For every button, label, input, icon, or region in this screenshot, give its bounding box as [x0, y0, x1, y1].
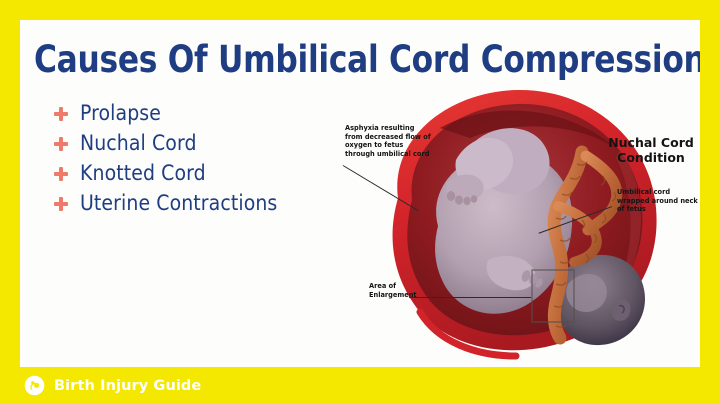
yellow-border-frame: Causes Of Umbilical Cord Compression Pro… [0, 0, 720, 404]
causes-list: Prolapse Nuchal Cord Knotted Cord Uterin… [54, 98, 344, 218]
footer-bar: Birth Injury Guide [0, 367, 720, 404]
content-card: Causes Of Umbilical Cord Compression Pro… [20, 20, 700, 367]
annotation-cord-wrapped-around-neck: Umbilical cord wrapped around neck of fe… [617, 188, 700, 214]
list-item: Knotted Cord [54, 158, 344, 188]
list-item: Nuchal Cord [54, 128, 344, 158]
list-item-label: Knotted Cord [80, 161, 206, 185]
plus-cross-icon [54, 137, 68, 151]
list-item-label: Uterine Contractions [80, 191, 277, 215]
list-item: Prolapse [54, 98, 344, 128]
annotation-asphyxia: Asphyxia resulting from decreased flow o… [345, 124, 431, 159]
footer-brand-label: Birth Injury Guide [54, 378, 201, 394]
annotation-nuchal-cord-heading: Nuchal Cord Condition [595, 135, 700, 165]
list-item-label: Prolapse [80, 101, 161, 125]
list-item-label: Nuchal Cord [80, 131, 197, 155]
page-title: Causes Of Umbilical Cord Compression [34, 40, 654, 80]
plus-cross-icon [54, 167, 68, 181]
list-item: Uterine Contractions [54, 188, 344, 218]
birth-injury-guide-logo-icon [24, 375, 45, 396]
annotation-area-of-enlargement: Area of Enlargement [369, 282, 439, 299]
plus-cross-icon [54, 197, 68, 211]
plus-cross-icon [54, 107, 68, 121]
